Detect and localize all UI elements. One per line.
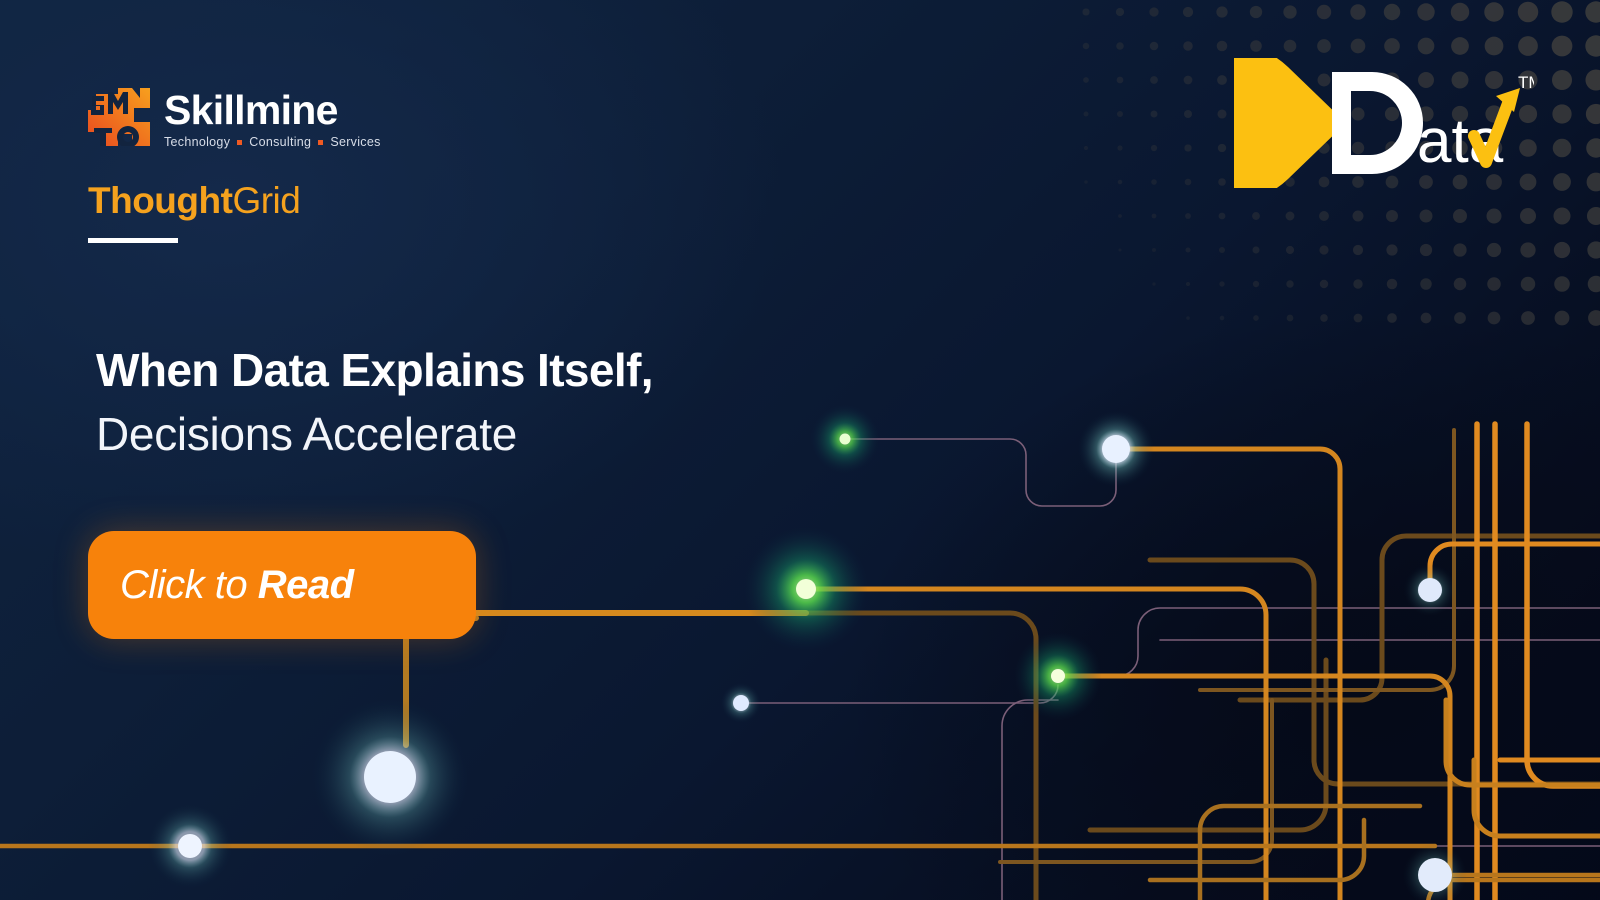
brand-name: Skillmine — [164, 90, 381, 131]
cta-label-regular: Click to — [120, 563, 258, 607]
pacman-mark-icon — [1234, 58, 1346, 188]
banner-canvas: Skillmine Technology Consulting Services… — [0, 0, 1600, 900]
series-title-regular: Grid — [232, 180, 300, 221]
skillmine-brand-lockup: Skillmine Technology Consulting Services — [88, 88, 381, 149]
trademark-mark: TM — [1518, 73, 1534, 92]
series-title-underline — [88, 238, 178, 243]
tagline-consulting: Consulting — [249, 135, 311, 149]
headline-line-1: When Data Explains Itself, — [96, 340, 976, 401]
cta-label-bold: Read — [258, 563, 354, 607]
tagline-services: Services — [330, 135, 380, 149]
tagline-technology: Technology — [164, 135, 230, 149]
data-partner-logo: ata TM — [1234, 58, 1534, 188]
brand-tagline: Technology Consulting Services — [164, 135, 381, 149]
circuit-nodes — [148, 405, 1467, 900]
headline-line-2: Decisions Accelerate — [96, 401, 976, 468]
headline: When Data Explains Itself, Decisions Acc… — [96, 340, 976, 467]
click-to-read-button[interactable]: Click to Read — [88, 531, 476, 639]
tagline-separator-icon — [237, 140, 242, 145]
cta-label: Click to Read — [120, 563, 354, 608]
series-title-bold: Thought — [88, 180, 232, 221]
letter-d — [1332, 72, 1423, 174]
skillmine-monogram-icon — [88, 88, 150, 146]
tagline-separator-icon — [318, 140, 323, 145]
series-title: ThoughtGrid — [88, 182, 300, 219]
